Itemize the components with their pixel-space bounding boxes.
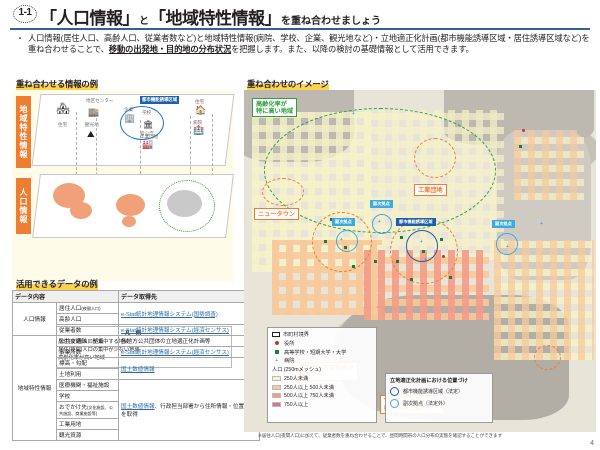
urban-zone-swatch-icon	[390, 387, 399, 396]
school-point	[324, 240, 327, 243]
school-point	[519, 145, 522, 148]
school-point	[422, 250, 425, 253]
sub-hub-swatch-icon	[390, 399, 399, 408]
label-district-center: 地区センター	[86, 98, 114, 104]
page-number: 4	[590, 440, 594, 447]
label-house-left: 住宅	[58, 122, 67, 128]
footnote: ※居住人口(夜間人口)に加えて、従業者数を重ね合わせることで、昼間時間帯の人口分…	[258, 433, 588, 439]
pop-swatch-icon	[272, 402, 281, 407]
callout-newtown: ニュータウン	[254, 208, 299, 220]
label-company: 企業	[124, 107, 133, 113]
legend-label: 病院	[284, 357, 294, 364]
bullet-part2: を把握します。また、以降の検討の基礎情報として活用できます。	[231, 44, 474, 54]
school-swatch-icon	[275, 350, 279, 354]
legend-item: 市町村境界	[272, 331, 372, 338]
table-row: 人口情報 居住人口(夜間人口) e-Stat統計地理情報システム(国勢調査)	[13, 303, 260, 314]
map-legend: 市町村境界 役所 高等学校・短期大学・大学 + 病院 人口 (250mメッシュ)…	[267, 327, 377, 423]
cell-source: e-Stat統計地理情報システム(国勢調査)	[119, 303, 260, 325]
overlay-map[interactable]: + + + + + + + + 高齢化率が 特に高い地域 ニュータウン 工業団地…	[244, 90, 596, 432]
hospital-point: +	[420, 240, 423, 245]
bullet-text: 人口情報(居住人口、高齢人口、従業者数など)と地域特性情報(病院、学校、企業、観…	[28, 33, 591, 56]
title-quote-2: 「地域特性情報」	[149, 4, 281, 29]
house-icon-right: 🏠	[195, 106, 206, 115]
plan-legend: 立地適正化計画における位置づけ 都市機能誘導区域（法定） 副次拠点（法定外）	[385, 373, 493, 423]
label-hospital: 病院	[193, 120, 202, 126]
office-swatch-icon	[275, 341, 279, 345]
pop-swatch-icon	[272, 376, 281, 381]
school-point	[352, 265, 355, 268]
newtown-ring	[262, 178, 304, 206]
district-center-icon: 🏬	[88, 108, 99, 117]
legend-label: 副次拠点（法定外）	[403, 400, 448, 407]
legend-label: 都市機能誘導区域（法定）	[403, 388, 463, 395]
gov-office-icon: 🏛	[143, 121, 153, 129]
title-divider	[10, 28, 590, 30]
legend-item: 副次拠点（法定外）	[390, 399, 488, 408]
hospital-point: +	[378, 220, 381, 225]
legend-item: 250人以上 500人未満	[272, 384, 372, 391]
legend-item: 役所	[272, 340, 372, 347]
houses-icon-left: 🏘	[56, 104, 70, 115]
band-label-regional: 地域特性情報	[16, 96, 31, 168]
hospital-icon: 🏥	[193, 126, 204, 135]
cell-subject: 標高・勾配	[57, 358, 119, 369]
population-blob	[70, 202, 92, 219]
legend-item: 750人以上	[272, 401, 372, 408]
overlay-diagram: 地域特性情報 人口情報 🏘 住宅 🏬 地区センター ⛰ 観光地 都市機能誘導区域…	[12, 90, 234, 282]
bullet-emphasis: 移動の出発地・目的地の分布状況	[109, 44, 231, 54]
col-header-content: データ内容	[13, 291, 119, 303]
cell-source: e-Stat統計地理情報システム(経済センサス)	[119, 325, 260, 336]
cell-category-population: 人口情報	[13, 303, 57, 336]
school-point	[400, 236, 403, 239]
data-table-wrapper: データ内容 データ取得先 人口情報 居住人口(夜間人口) e-Stat統計地理情…	[12, 290, 260, 441]
legend-label: 500人以上 750人未満	[284, 392, 334, 399]
legend-label: 250人未満	[284, 375, 308, 382]
table-header-row: データ内容 データ取得先	[13, 291, 260, 303]
section-heading-left: 重ね合わせる情報の例	[14, 77, 100, 90]
population-blob	[122, 216, 136, 227]
source-link[interactable]: 国土数値情報	[121, 367, 155, 373]
cell-subject: 従業者数	[57, 325, 119, 336]
company-icon: 🏢	[124, 114, 135, 123]
legend-item: 高等学校・短期大学・大学	[272, 349, 372, 356]
hospital-point: +	[424, 258, 427, 263]
cell-subject: 事業所数	[57, 347, 119, 358]
school-point	[344, 246, 347, 249]
cell-subject: 観光資源	[57, 430, 119, 441]
col-header-source: データ取得先	[119, 291, 260, 303]
chip-sub-hub-1: 副次拠点	[332, 218, 355, 226]
cell-category-regional: 地域特性情報	[13, 336, 57, 441]
cell-subject: 工業用地	[57, 419, 119, 430]
cell-subject: 医療機関・福祉施設	[57, 380, 119, 391]
intro-bullet: ・ 人口情報(居住人口、高齢人口、従業者数など)と地域特性情報(病院、学校、企業…	[16, 33, 591, 56]
cell-source-merged: 国土数値情報、行政担当部署から住所情報・位置情報を取得	[119, 380, 260, 441]
cell-source: 各地方公共団体の立地適正化計画等	[119, 336, 260, 347]
school-point	[374, 260, 377, 263]
legend-label: 750人以上	[284, 401, 308, 408]
page-header: 1-1 「人口情報」 と 「地域特性情報」 を重ね合わせましょう	[0, 0, 600, 36]
school-point	[449, 276, 452, 279]
mesh-cluster	[514, 130, 584, 200]
hospital-swatch-icon: +	[272, 358, 281, 364]
data-table: データ内容 データ取得先 人口情報 居住人口(夜間人口) e-Stat統計地理情…	[12, 290, 260, 441]
legend-label: 市町村境界	[283, 331, 309, 338]
industrial-ring	[414, 138, 456, 178]
label-school: 学校	[142, 110, 151, 116]
school-point	[410, 278, 413, 281]
source-link[interactable]: e-Stat統計地理情報システム(経済センサス)	[121, 328, 229, 334]
table-row: 地域特性情報 公共交通軸・拠点 各地方公共団体の立地適正化計画等	[13, 336, 260, 347]
chip-urban-function: 都市機能誘導区域	[396, 218, 436, 226]
pop-swatch-icon	[272, 385, 281, 390]
label-industrial-park: 工業団地	[140, 134, 158, 140]
hospital-point: +	[352, 112, 355, 117]
legend-label: 250人以上 500人未満	[284, 384, 334, 391]
legend-item: 500人以上 750人未満	[272, 392, 372, 399]
section-heading-table: 活用できるデータの例	[14, 277, 100, 290]
chip-sub-hub-3: 副次拠点	[492, 220, 515, 228]
cell-subject: 居住人口(夜間人口)	[57, 303, 119, 314]
tourism-ring	[534, 345, 561, 370]
boundary-swatch-icon	[272, 332, 280, 338]
urban-function-ring	[406, 230, 438, 262]
cell-source: 国土数値情報	[119, 358, 260, 380]
title-tail: を重ね合わせましょう	[281, 12, 381, 27]
bullet-marker: ・	[16, 33, 24, 56]
title-mid: と	[139, 12, 149, 27]
hospital-point: +	[540, 222, 543, 227]
pop-swatch-icon	[272, 393, 281, 398]
section-badge: 1-1	[12, 4, 38, 24]
school-point	[396, 260, 399, 263]
sightseeing-icon: ⛰	[87, 130, 95, 139]
legend-population-title: 人口 (250mメッシュ)	[272, 366, 372, 373]
callout-industrial: 工業団地	[414, 184, 447, 196]
cell-subject: おでかけ先(文化施設、公共施設、商業施設等)	[57, 402, 119, 419]
cell-subject: 土地利用	[57, 369, 119, 380]
title-quote-1: 「人口情報」	[40, 4, 139, 29]
cell-subject: 高齢人口	[57, 314, 119, 325]
legend-item: + 病院	[272, 357, 372, 364]
hospital-point: +	[340, 238, 343, 243]
legend-label: 役所	[284, 340, 294, 347]
source-link[interactable]: 国土数値情報	[121, 404, 155, 410]
label-house-right: 住宅	[195, 99, 204, 105]
band-label-population: 人口情報	[16, 178, 31, 234]
legend-label: 高等学校・短期大学・大学	[284, 349, 346, 356]
mesh-cluster	[494, 240, 594, 360]
source-link[interactable]: e-Stat統計地理情報システム(国勢調査)	[121, 312, 218, 318]
cell-source: e-Stat統計地理情報システム(経済センサス)	[119, 347, 260, 358]
population-blob	[116, 194, 145, 216]
plan-legend-title: 立地適正化計画における位置づけ	[390, 377, 488, 384]
hospital-point: +	[506, 245, 509, 250]
legend-item: 都市機能誘導区域（法定）	[390, 387, 488, 396]
school-point	[440, 238, 443, 241]
aging-area-ring-icon	[159, 180, 215, 232]
chip-urban-function-zone: 都市機能誘導区域	[140, 96, 179, 104]
cell-subject: 学校	[57, 391, 119, 402]
chip-sub-hub-2: 副次拠点	[370, 200, 393, 208]
section-heading-right: 重ね合わせのイメージ	[245, 77, 331, 90]
cell-subject: 公共交通軸・拠点	[57, 336, 119, 347]
page-title: 1-1 「人口情報」 と 「地域特性情報」 を重ね合わせましょう	[12, 4, 381, 29]
sub-hub-ring-2	[372, 214, 392, 234]
badge-number: 1-1	[12, 7, 38, 18]
industrial-park-icon: 🏭	[142, 140, 153, 149]
source-link[interactable]: e-Stat統計地理情報システム(経済センサス)	[121, 350, 229, 356]
legend-item: 250人未満	[272, 375, 372, 382]
callout-aging: 高齢化率が 特に高い地域	[252, 98, 297, 117]
